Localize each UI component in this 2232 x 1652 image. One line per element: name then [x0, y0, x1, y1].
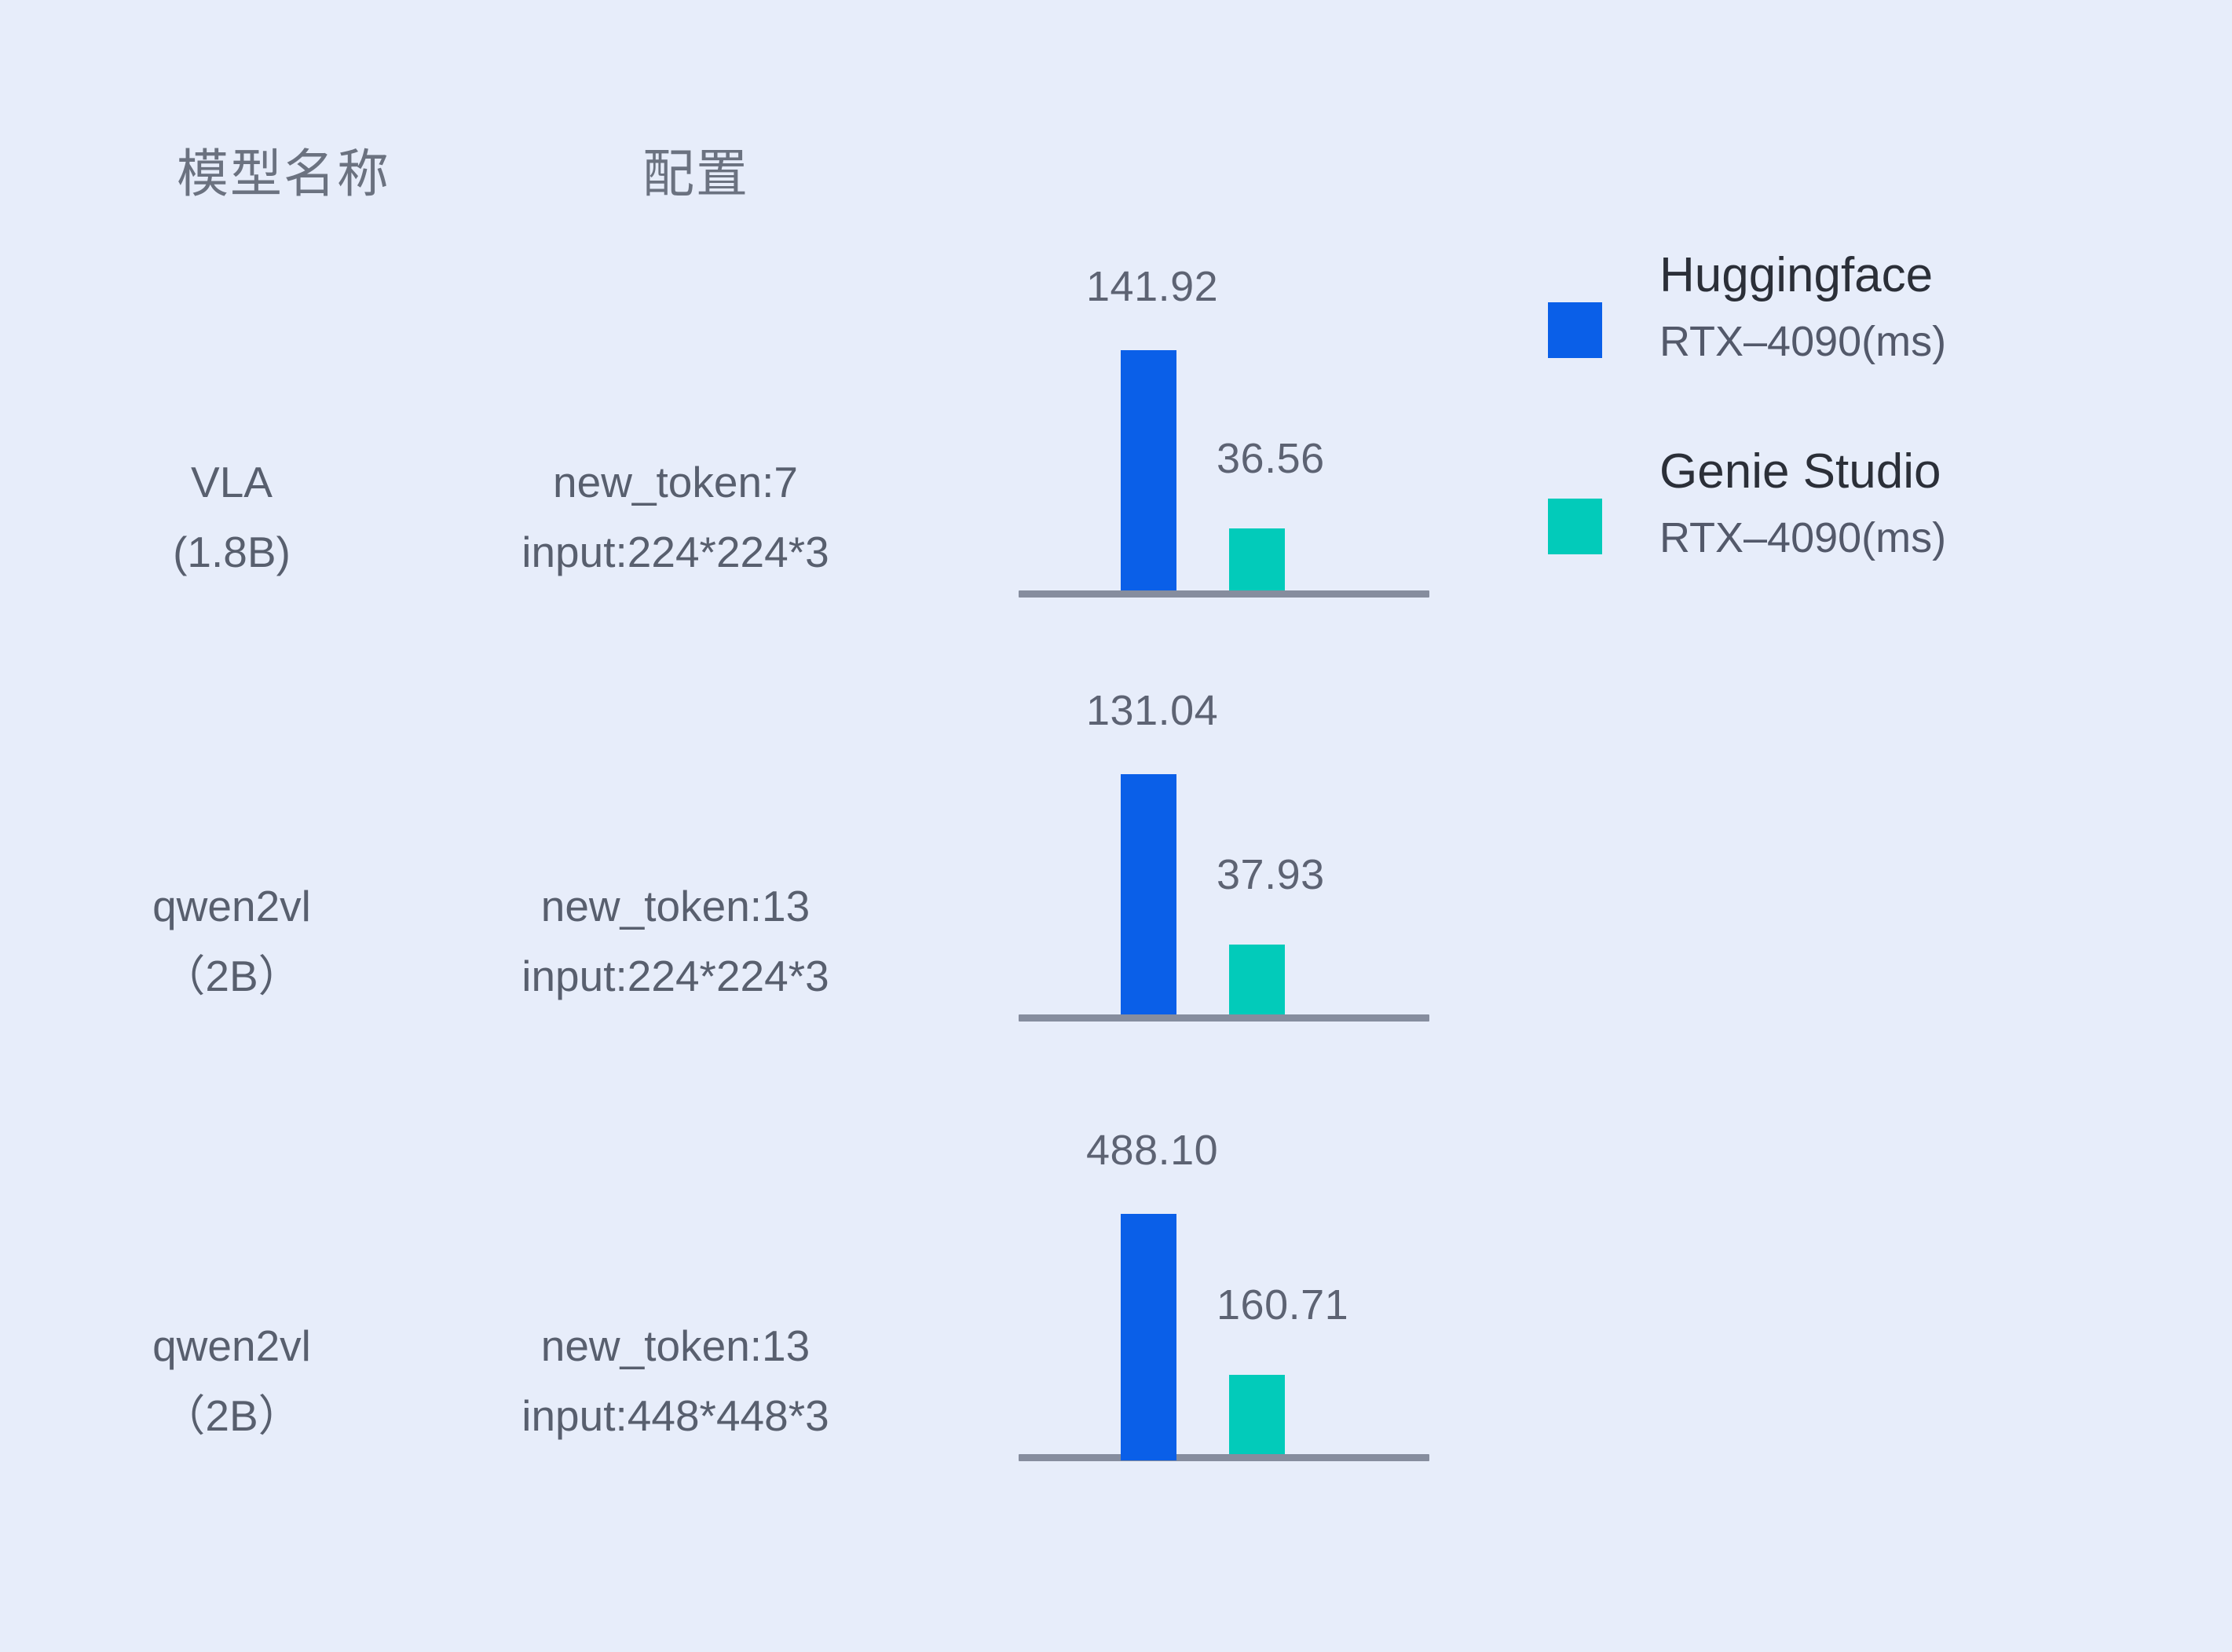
- bar-value-label-genie-studio: 37.93: [1217, 850, 1325, 899]
- cell-model-name: qwen2vl （2B）: [118, 1311, 346, 1451]
- axis-baseline: [1019, 1454, 1429, 1461]
- bar-huggingface[interactable]: [1121, 1214, 1176, 1460]
- bar-genie-studio[interactable]: [1229, 945, 1285, 1014]
- axis-baseline: [1019, 590, 1429, 598]
- config-line2: input:224*224*3: [440, 941, 911, 1011]
- square-swatch-icon: [1548, 499, 1602, 554]
- bar-value-label-huggingface: 488.10: [1086, 1126, 1218, 1175]
- legend-series-name: Genie Studio: [1659, 448, 2201, 496]
- legend-item-genie-studio[interactable]: Genie Studio RTX–4090(ms): [1543, 440, 2203, 636]
- config-line1: new_token:13: [541, 882, 810, 930]
- bar-group: 131.04 37.93: [1019, 683, 1435, 1021]
- table-row: qwen2vl （2B） new_token:13 input:448*448*…: [0, 1311, 990, 1468]
- cell-config: new_token:13 input:224*224*3: [440, 872, 911, 1011]
- model-name-line2: （2B）: [118, 941, 346, 1011]
- cell-config: new_token:7 input:224*224*3: [440, 448, 911, 587]
- legend-label-genie-studio: Genie Studio RTX–4090(ms): [1659, 448, 2201, 559]
- bar-group: 488.10 160.71: [1019, 1099, 1435, 1460]
- legend-item-huggingface[interactable]: Huggingface RTX–4090(ms): [1543, 243, 2203, 440]
- config-line1: new_token:7: [553, 458, 798, 506]
- bar-value-label-huggingface: 141.92: [1086, 262, 1218, 311]
- table-row: qwen2vl （2B） new_token:13 input:224*224*…: [0, 872, 990, 1029]
- model-name-line1: qwen2vl: [152, 882, 311, 930]
- bar-genie-studio[interactable]: [1229, 1375, 1285, 1454]
- square-swatch-icon: [1548, 302, 1602, 358]
- cell-model-name: qwen2vl （2B）: [118, 872, 346, 1011]
- config-line1: new_token:13: [541, 1321, 810, 1370]
- chart-canvas: 模型名称 配置 VLA (1.8B) new_token:7 input:224…: [0, 0, 2232, 1652]
- model-name-line2: （2B）: [118, 1381, 346, 1451]
- config-line2: input:448*448*3: [440, 1381, 911, 1451]
- legend-series-name: Huggingface: [1659, 251, 2201, 300]
- column-header-model-name: 模型名称: [177, 132, 390, 207]
- chart-legend: Huggingface RTX–4090(ms) Genie Studio RT…: [1543, 243, 2203, 636]
- legend-series-sub: RTX–4090(ms): [1659, 320, 2201, 363]
- bar-huggingface[interactable]: [1121, 350, 1176, 590]
- table-row: VLA (1.8B) new_token:7 input:224*224*3: [0, 448, 990, 605]
- legend-label-huggingface: Huggingface RTX–4090(ms): [1659, 251, 2201, 363]
- model-name-line1: VLA: [191, 458, 273, 506]
- bar-value-label-huggingface: 131.04: [1086, 686, 1218, 735]
- column-header-config: 配置: [642, 132, 749, 207]
- bar-huggingface[interactable]: [1121, 774, 1176, 1014]
- bar-genie-studio[interactable]: [1229, 528, 1285, 590]
- config-line2: input:224*224*3: [440, 517, 911, 587]
- cell-config: new_token:13 input:448*448*3: [440, 1311, 911, 1451]
- model-name-line1: qwen2vl: [152, 1321, 311, 1370]
- bar-group: 141.92 36.56: [1019, 259, 1435, 597]
- bar-value-label-genie-studio: 160.71: [1217, 1281, 1348, 1329]
- cell-model-name: VLA (1.8B): [118, 448, 346, 587]
- axis-baseline: [1019, 1014, 1429, 1022]
- model-name-line2: (1.8B): [118, 517, 346, 587]
- bar-value-label-genie-studio: 36.56: [1217, 434, 1325, 483]
- legend-series-sub: RTX–4090(ms): [1659, 517, 2201, 559]
